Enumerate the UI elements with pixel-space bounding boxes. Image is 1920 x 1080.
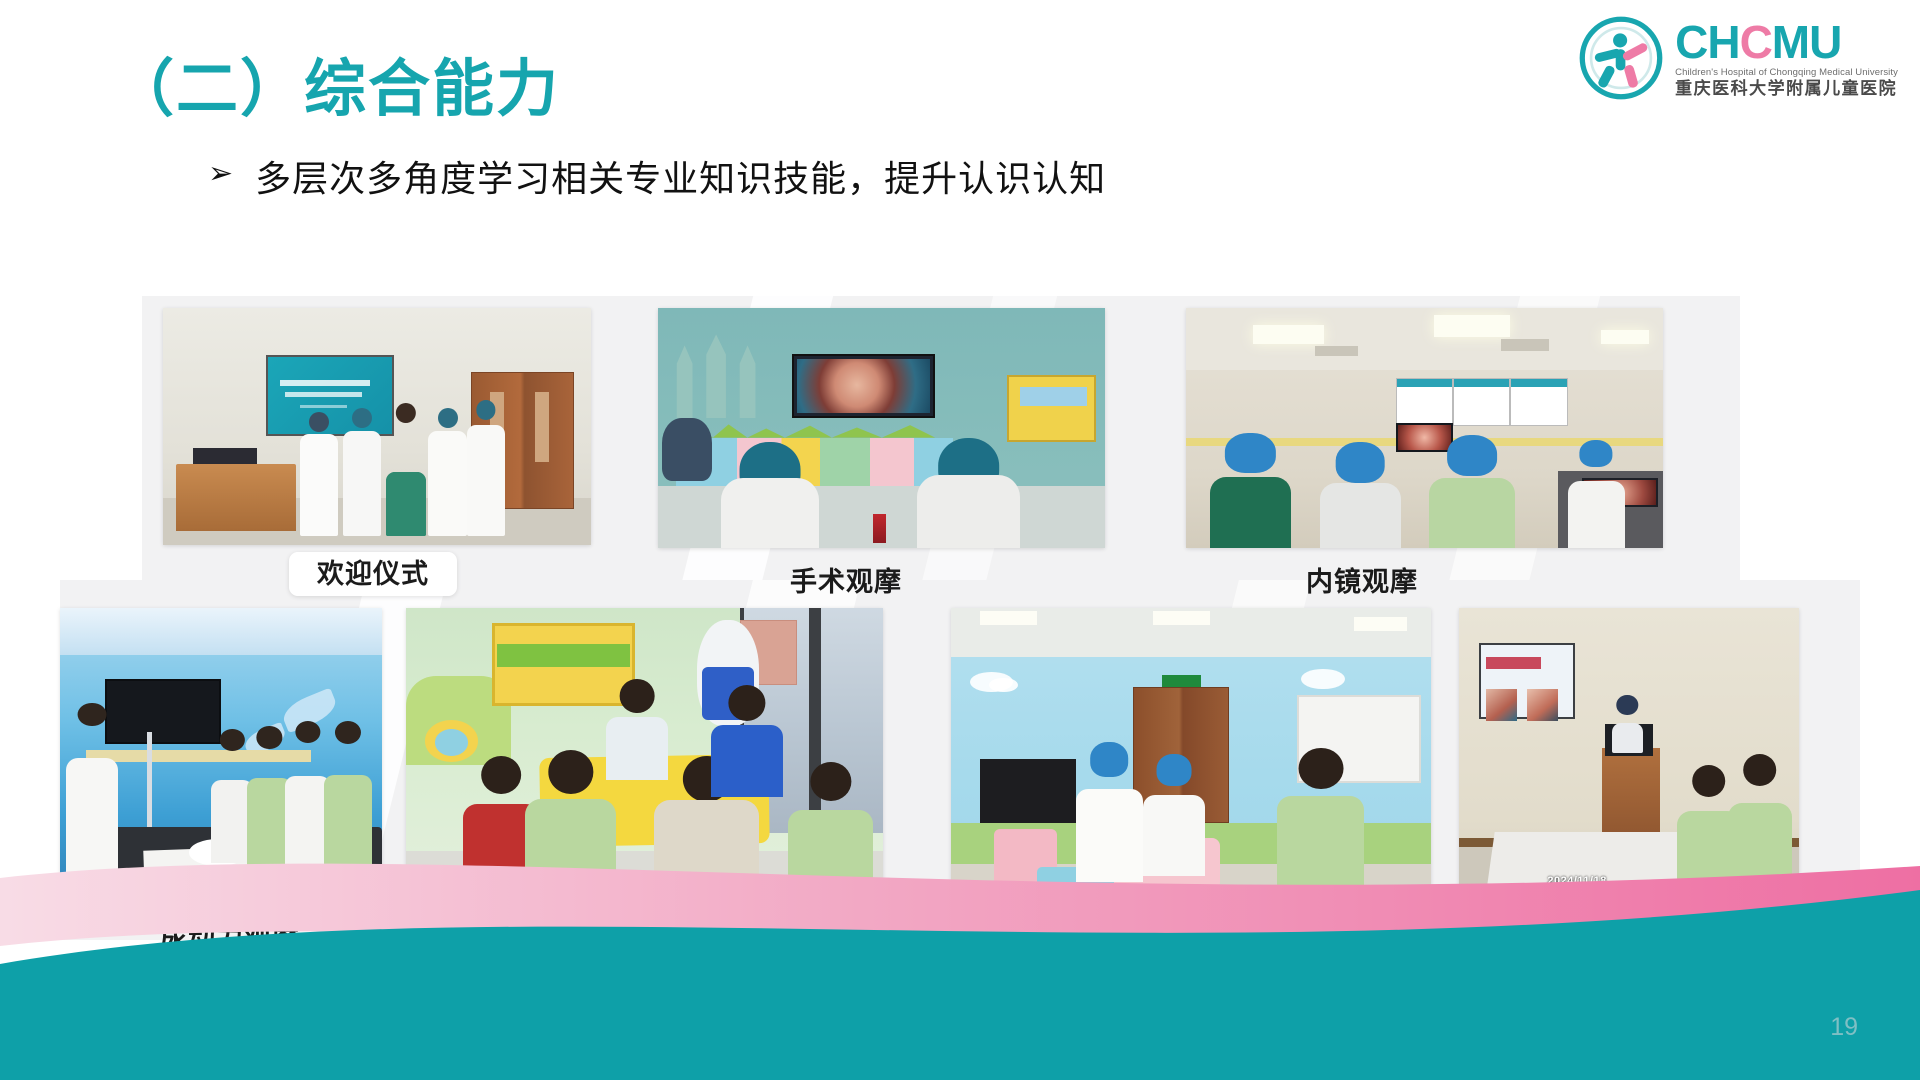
logo-english-name: Children's Hospital of Chongqing Medical… (1675, 68, 1898, 78)
logo-chinese-name: 重庆医科大学附属儿童医院 (1675, 80, 1897, 97)
logo-wordmark-part-2: C (1740, 19, 1772, 65)
arrow-bullet-icon: ➢ (208, 159, 233, 189)
caption-text: 欢迎仪式 (289, 552, 457, 596)
page-title: （二）综合能力 (112, 38, 560, 128)
photo-caption-welcome-ceremony: 欢迎仪式 (289, 552, 457, 591)
bullet-line: ➢ 多层次多角度学习相关专业知识技能，提升认识认知 (208, 150, 1106, 202)
photo-topic-guidance (951, 608, 1431, 899)
photo-surgery-observation (658, 308, 1105, 548)
page-number: 19 (1830, 1013, 1858, 1042)
logo-text-block: CHCMU Children's Hospital of Chongqing M… (1675, 19, 1898, 97)
photo-case-sharing: 2024/11/18 (1459, 608, 1799, 899)
photo-endoscopy-observation (1186, 308, 1663, 548)
bullet-text: 多层次多角度学习相关专业知识技能，提升认识认知 (255, 150, 1106, 202)
hospital-logo: CHCMU Children's Hospital of Chongqing M… (1577, 14, 1898, 102)
logo-wordmark-part-3: MU (1772, 19, 1842, 65)
logo-wordmark: CHCMU (1675, 19, 1841, 65)
chcmu-child-figure-mark-icon (1577, 14, 1665, 102)
footer-wave-decoration: 19 (0, 860, 1920, 1080)
photo-caption-endoscopy-observation: 内镜观摩 (1306, 560, 1418, 599)
photo-caption-surgery-observation: 手术观摩 (790, 560, 902, 599)
slide-canvas: （二）综合能力 CHCMU Children's Hospital of Cho… (0, 0, 1920, 1080)
logo-wordmark-part-1: CH (1675, 19, 1739, 65)
photo-welcome-ceremony (163, 308, 591, 545)
